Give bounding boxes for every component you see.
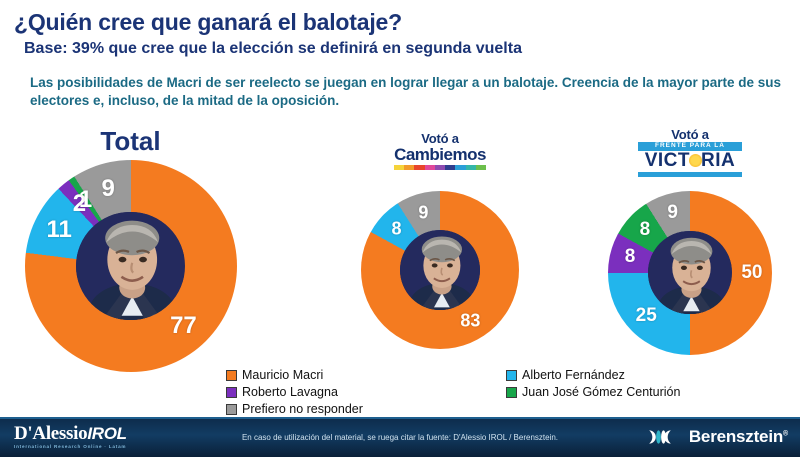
legend-centurion-label: Juan José Gómez Centurión (522, 386, 680, 400)
berensztein-name: Berensztein® (689, 427, 788, 447)
cambiemos-stripe (394, 165, 486, 170)
logo-cambiemos-line1: Votó a (394, 132, 486, 145)
fpv-word-a: VICT (645, 150, 690, 171)
chart-total-title: Total (8, 128, 253, 154)
chart-cambiemos: Votó a Cambiemos 8389 (355, 132, 525, 354)
donut-fpv-value-1: 25 (636, 305, 657, 327)
donut-fpv-value-3: 8 (640, 219, 651, 241)
berensztein-mark-icon (637, 427, 683, 447)
logo-fpv-line1: Votó a (638, 128, 742, 141)
macri-portrait-icon (76, 212, 184, 320)
charts-row: Total 7711219 Votó a Cambiemos 8389 Votó… (0, 128, 800, 378)
donut-cambiemos-value-1: 8 (392, 219, 402, 240)
donut-fpv-value-4: 9 (667, 202, 678, 224)
donut-ring-cambiemos (361, 191, 519, 349)
berensztein-reg: ® (783, 430, 788, 437)
footer: D'AlessioIROL International Research Onl… (0, 417, 800, 457)
donut-fpv-value-0: 50 (741, 262, 762, 284)
legend-fernandez-swatch-icon (506, 370, 517, 381)
base-subtitle: Base: 39% que cree que la elección se de… (24, 41, 800, 58)
legend-macri-swatch-icon (226, 370, 237, 381)
fpv-bar (638, 172, 742, 177)
lead-paragraph: Las posibilidades de Macri de ser reelec… (30, 74, 786, 110)
legend-centurion[interactable]: Juan José Gómez Centurión (506, 386, 786, 400)
logo-cambiemos: Votó a Cambiemos (394, 132, 486, 170)
donut-total-value-3: 1 (79, 186, 92, 214)
legend-no-responde[interactable]: Prefiero no responder (226, 403, 506, 417)
donut-center-photo-fpv (648, 231, 732, 315)
berensztein-logo: Berensztein® (637, 427, 788, 447)
logo-fpv-line3: VICTRIA (638, 151, 742, 170)
donut-total-value-4: 9 (101, 175, 114, 203)
chart-fpv: Votó a FRENTE PARA LA VICTRIA 5025889 (600, 128, 780, 360)
donut-cambiemos[interactable]: 8389 (361, 191, 519, 349)
donut-total-value-0: 77 (170, 312, 197, 340)
fpv-word-b: RIA (701, 150, 735, 171)
legend-no-responde-swatch-icon (226, 404, 237, 415)
legend-no-responde-label: Prefiero no responder (242, 403, 363, 417)
donut-ring-total (25, 160, 237, 372)
dalessio-tagline: International Research Online · Latam (14, 445, 127, 450)
donut-total[interactable]: 7711219 (25, 160, 237, 372)
logo-fpv: Votó a FRENTE PARA LA VICTRIA (638, 128, 742, 177)
slide: ¿Quién cree que ganará el balotaje? Base… (0, 0, 800, 457)
macri-portrait-icon (400, 230, 481, 311)
legend-macri[interactable]: Mauricio Macri (226, 369, 506, 383)
legend-macri-label: Mauricio Macri (242, 369, 323, 383)
donut-fpv[interactable]: 5025889 (608, 191, 772, 355)
legend: Mauricio MacriRoberto LavagnaPrefiero no… (226, 369, 786, 419)
legend-centurion-swatch-icon (506, 387, 517, 398)
logo-cambiemos-line2: Cambiemos (394, 146, 486, 163)
legend-lavagna[interactable]: Roberto Lavagna (226, 386, 506, 400)
donut-cambiemos-value-2: 9 (418, 202, 428, 223)
donut-fpv-value-2: 8 (625, 246, 636, 268)
page-title: ¿Quién cree que ganará el balotaje? (14, 10, 800, 34)
chart-total: Total 7711219 (8, 128, 253, 377)
legend-column-left: Mauricio MacriRoberto LavagnaPrefiero no… (226, 369, 506, 419)
donut-center-photo-cambiemos (400, 230, 481, 311)
legend-lavagna-swatch-icon (226, 387, 237, 398)
legend-fernandez-label: Alberto Fernández (522, 369, 625, 383)
donut-total-value-1: 11 (47, 216, 72, 244)
macri-portrait-icon (648, 231, 732, 315)
legend-fernandez[interactable]: Alberto Fernández (506, 369, 786, 383)
header: ¿Quién cree que ganará el balotaje? Base… (0, 0, 800, 110)
berensztein-text: Berensztein (689, 427, 783, 446)
legend-column-right: Alberto FernándezJuan José Gómez Centuri… (506, 369, 786, 419)
legend-lavagna-label: Roberto Lavagna (242, 386, 338, 400)
donut-center-photo-total (76, 212, 184, 320)
donut-cambiemos-value-0: 83 (460, 311, 480, 332)
